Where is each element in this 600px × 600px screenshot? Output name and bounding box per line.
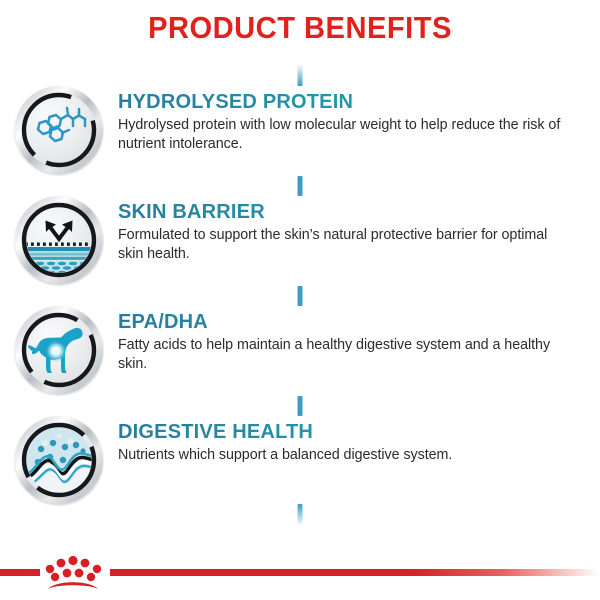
benefit-heading: HYDROLYSED PROTEIN	[118, 92, 586, 113]
royal-canin-crown-logo	[42, 553, 110, 593]
benefit-heading: SKIN BARRIER	[118, 202, 586, 223]
connector-line	[298, 396, 303, 416]
benefit-text-container: HYDROLYSED PROTEIN Hydrolysed protein wi…	[118, 78, 600, 154]
benefit-icon-container	[0, 78, 118, 174]
connector-line-bottom	[298, 504, 303, 526]
benefit-text-container: EPA/DHA Fatty acids to help maintain a h…	[118, 298, 600, 374]
benefit-body: Fatty acids to help maintain a healthy d…	[118, 336, 570, 374]
skin-barrier-icon	[15, 196, 103, 284]
benefit-heading: EPA/DHA	[118, 312, 586, 333]
benefit-item-epa-dha: EPA/DHA Fatty acids to help maintain a h…	[0, 298, 600, 408]
connector-line-top	[298, 64, 303, 86]
connector-line	[298, 286, 303, 306]
benefits-list: HYDROLYSED PROTEIN Hydrolysed protein wi…	[0, 78, 600, 518]
benefit-item-hydrolysed-protein: HYDROLYSED PROTEIN Hydrolysed protein wi…	[0, 78, 600, 188]
benefit-item-skin-barrier: SKIN BARRIER Formulated to support the s…	[0, 188, 600, 298]
digestive-wave-icon	[15, 416, 103, 504]
footer-rule-right	[110, 569, 600, 576]
benefit-text-container: SKIN BARRIER Formulated to support the s…	[118, 188, 600, 264]
badge-frame	[15, 86, 103, 174]
benefit-body: Hydrolysed protein with low molecular we…	[118, 116, 570, 154]
page-title: PRODUCT BENEFITS	[18, 12, 582, 43]
benefit-item-digestive-health: DIGESTIVE HEALTH Nutrients which support…	[0, 408, 600, 518]
benefit-icon-container	[0, 298, 118, 394]
footer-brand-bar	[0, 542, 600, 600]
footer-rule-left	[0, 569, 40, 576]
connector-line	[298, 176, 303, 196]
benefit-heading: DIGESTIVE HEALTH	[118, 422, 586, 443]
molecule-icon	[15, 86, 103, 174]
benefit-icon-container	[0, 188, 118, 284]
dog-silhouette-icon	[15, 306, 103, 394]
benefit-text-container: DIGESTIVE HEALTH Nutrients which support…	[118, 408, 600, 465]
benefit-body: Nutrients which support a balanced diges…	[118, 446, 570, 465]
benefit-body: Formulated to support the skin’s natural…	[118, 226, 570, 264]
badge-frame	[15, 196, 103, 284]
benefit-icon-container	[0, 408, 118, 504]
badge-frame	[15, 306, 103, 394]
badge-frame	[15, 416, 103, 504]
